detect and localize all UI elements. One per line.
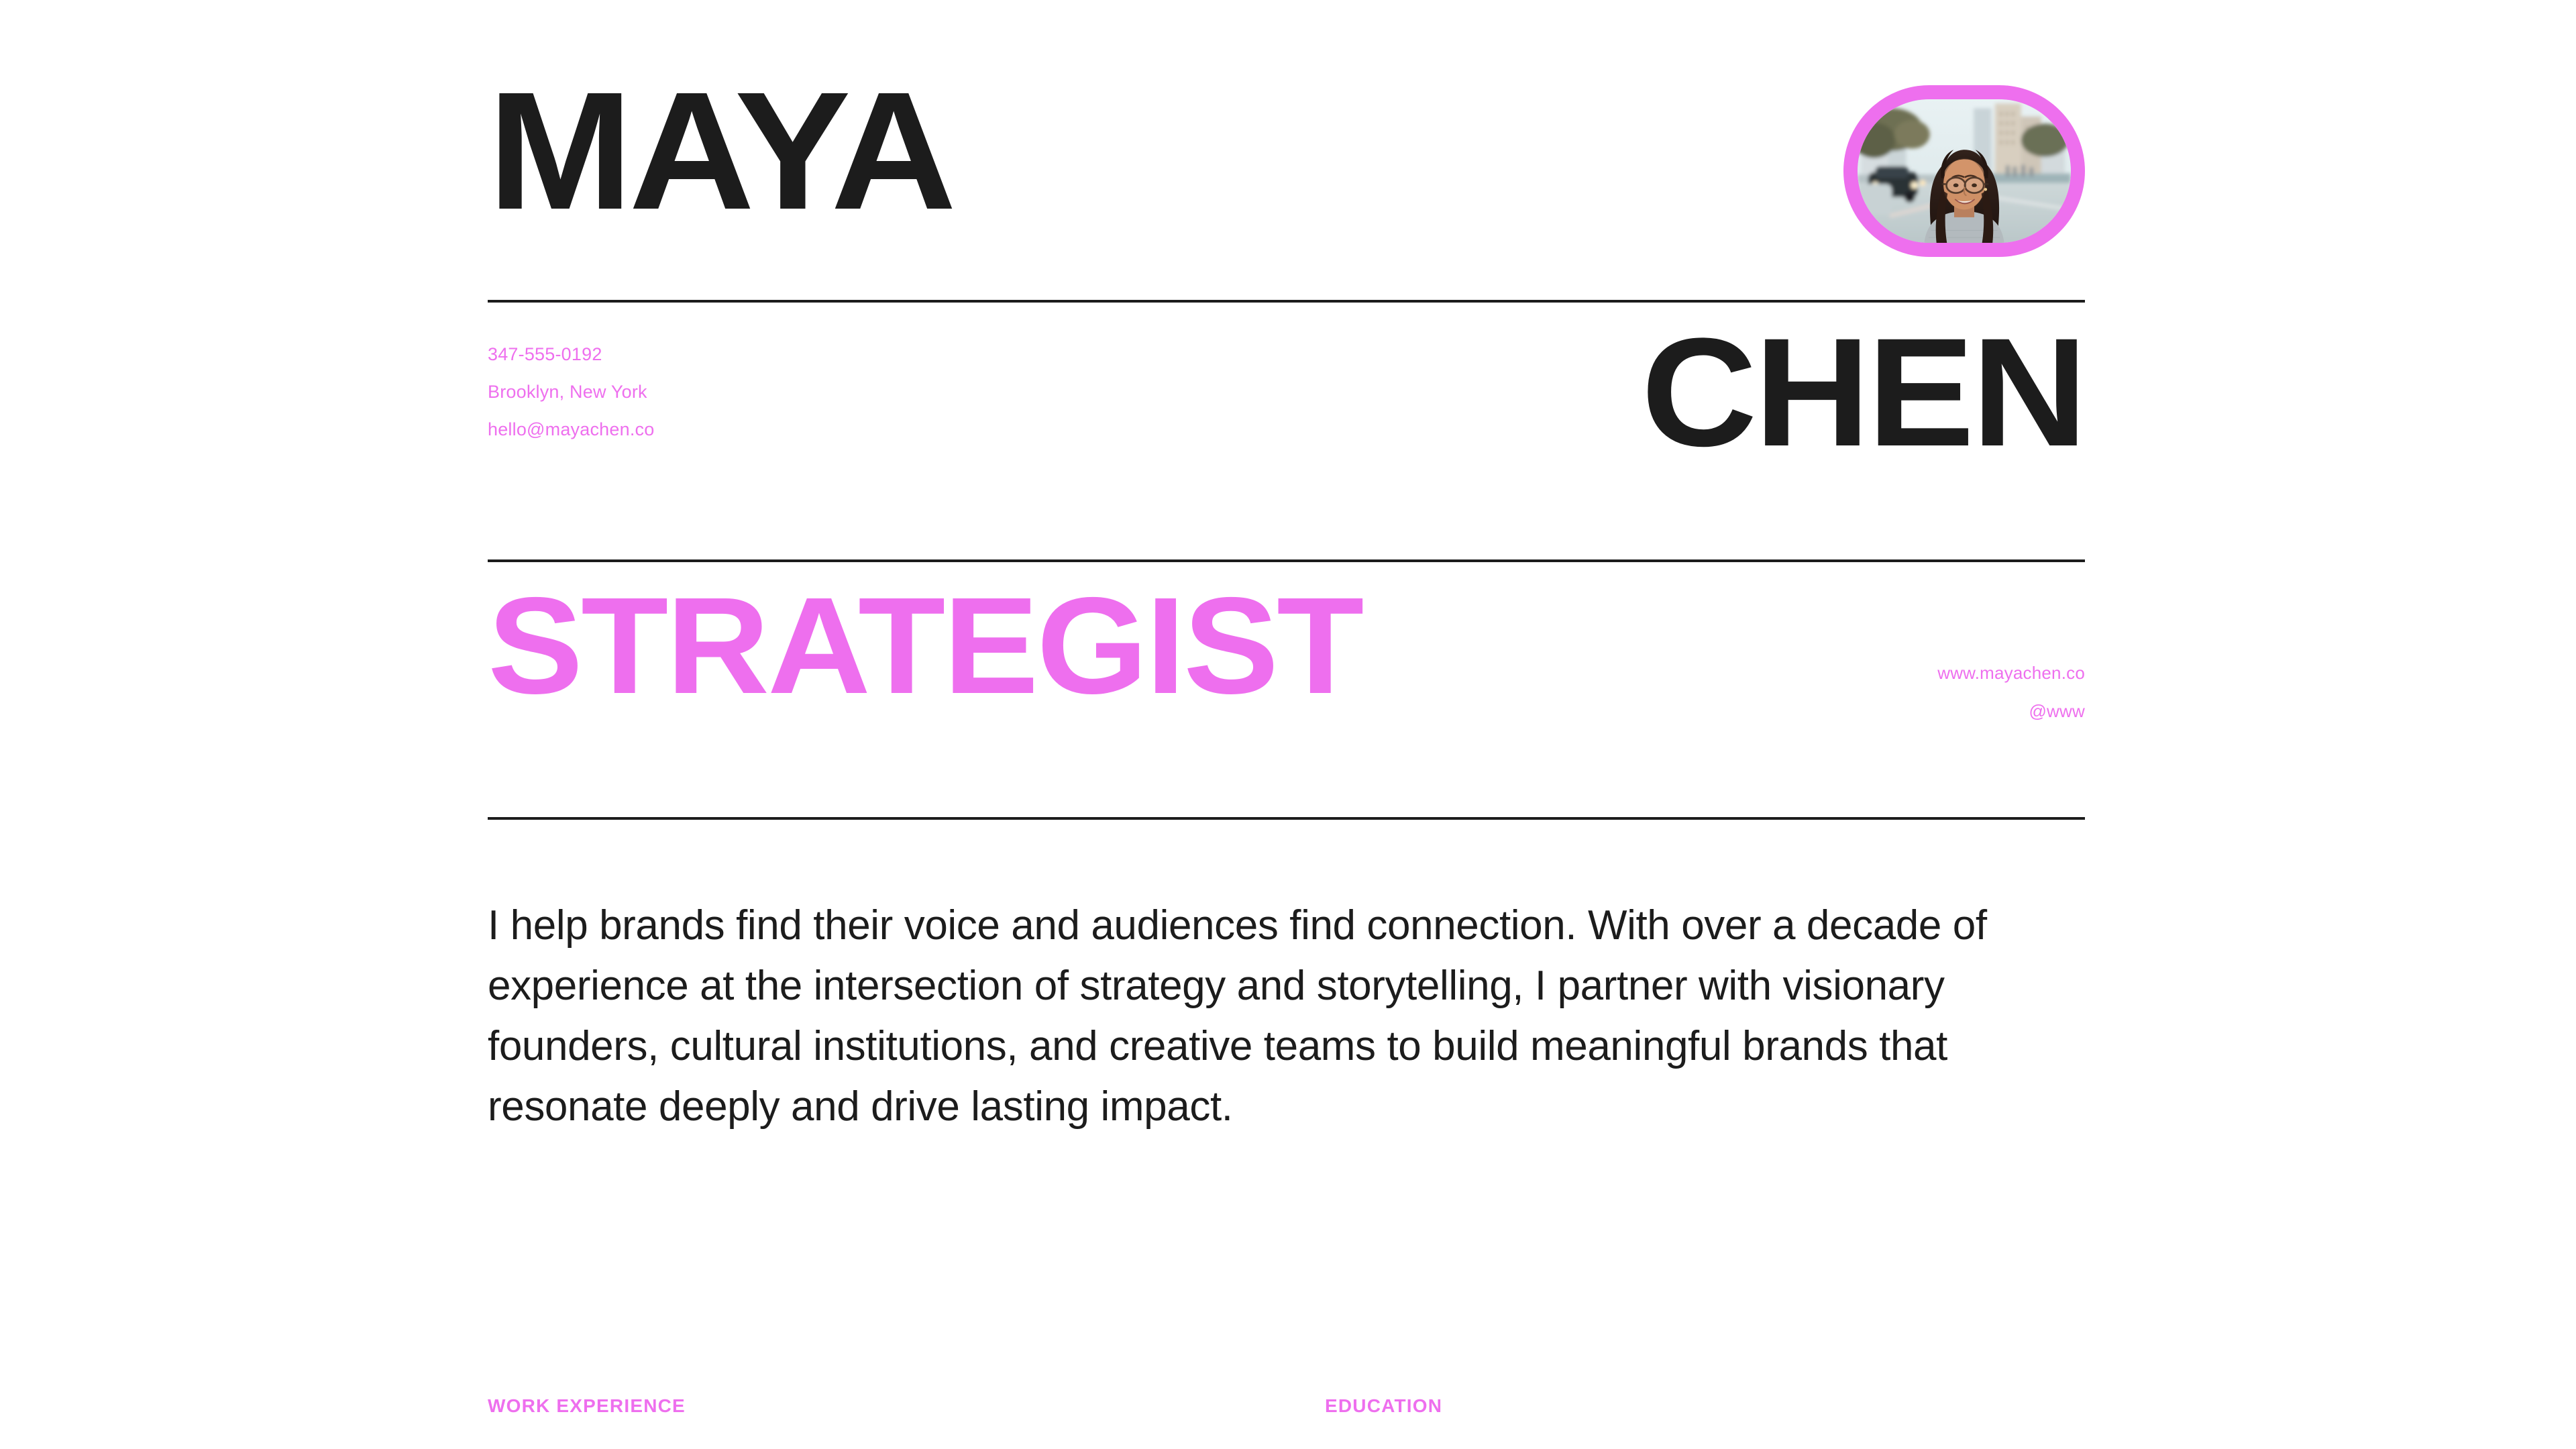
contact-location: Brooklyn, New York bbox=[488, 373, 654, 411]
contact-block: 347-555-0192 Brooklyn, New York hello@ma… bbox=[488, 335, 654, 448]
summary-row: I help brands find their voice and audie… bbox=[488, 896, 2098, 1137]
header-name-row: MAYA bbox=[488, 67, 2085, 282]
page-title-first-name: MAYA bbox=[488, 67, 953, 235]
contact-email[interactable]: hello@mayachen.co bbox=[488, 411, 654, 448]
section-headings-row: WORK EXPERIENCE EDUCATION bbox=[488, 1395, 2085, 1449]
job-role-title: STRATEGIST bbox=[488, 577, 1362, 714]
divider-rule-1 bbox=[488, 300, 2085, 303]
profile-summary-text: I help brands find their voice and audie… bbox=[488, 896, 2091, 1137]
avatar-photo bbox=[1858, 99, 2071, 243]
link-social-handle[interactable]: @www bbox=[1937, 692, 2085, 731]
section-heading-work-experience: WORK EXPERIENCE bbox=[488, 1395, 686, 1417]
link-website[interactable]: www.mayachen.co bbox=[1937, 654, 2085, 692]
resume-page: MAYA bbox=[0, 0, 2576, 1449]
section-heading-education: EDUCATION bbox=[1325, 1395, 1442, 1417]
contact-and-lastname-row: 347-555-0192 Brooklyn, New York hello@ma… bbox=[488, 315, 2085, 550]
contact-phone[interactable]: 347-555-0192 bbox=[488, 335, 654, 373]
links-block: www.mayachen.co @www bbox=[1937, 654, 2085, 731]
role-and-links-row: STRATEGIST www.mayachen.co @www bbox=[488, 577, 2085, 805]
divider-rule-2 bbox=[488, 559, 2085, 562]
page-title-last-name: CHEN bbox=[1642, 315, 2085, 470]
avatar bbox=[1843, 85, 2085, 257]
divider-rule-3 bbox=[488, 817, 2085, 820]
